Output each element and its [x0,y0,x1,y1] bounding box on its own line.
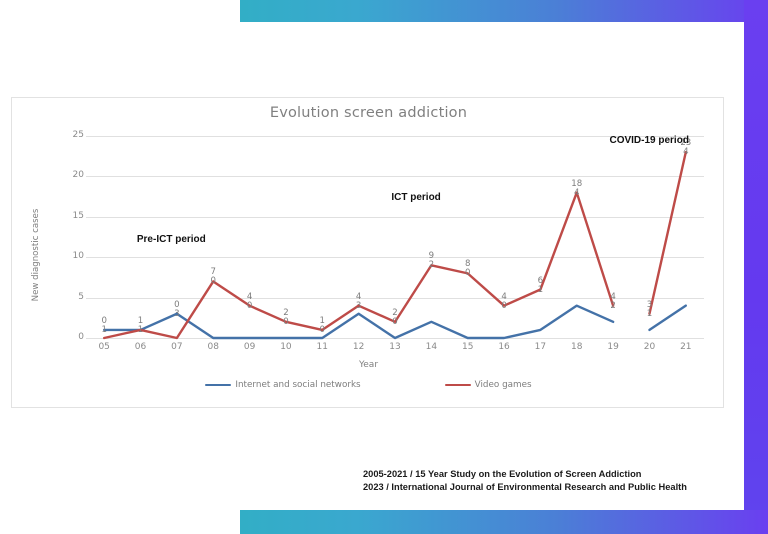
data-label-internet: 0 [491,301,517,311]
footer-line-1: 2005-2021 / 15 Year Study on the Evoluti… [363,468,733,481]
legend-swatch-icon [445,384,471,387]
data-label-internet: 0 [309,325,335,335]
plot-area: 0510152025 05060708091011121314151617181… [86,136,704,338]
legend-label: Video games [475,380,532,390]
chart-container: Evolution screen addiction New diagnosti… [11,97,724,408]
x-axis-tick-label: 16 [489,342,519,352]
period-annotation: COVID-19 period [609,135,688,146]
y-axis-tick-label: 25 [44,130,84,140]
x-axis-tick-label: 18 [562,342,592,352]
x-axis-tick-label: 09 [235,342,265,352]
decorative-band-right [744,0,768,534]
data-label-internet: 0 [200,276,226,286]
x-axis-tick-label: 12 [344,342,374,352]
data-label-internet: 2 [418,260,444,270]
x-axis-tick-label: 10 [271,342,301,352]
x-axis-tick-label: 11 [307,342,337,352]
data-label-internet: 0 [455,268,481,278]
data-label-internet: 3 [346,301,372,311]
decorative-band-bottom [240,510,768,534]
data-label-internet: 1 [91,325,117,335]
x-axis-tick-label: 19 [598,342,628,352]
x-axis-tick-label: 15 [453,342,483,352]
data-label-internet: 4 [564,188,590,198]
data-label-internet: 1 [636,309,662,319]
period-annotation: ICT period [391,192,440,203]
y-axis-tick-label: 15 [44,211,84,221]
chart-legend: Internet and social networksVideo games [12,380,725,390]
x-axis-tick-label: 07 [162,342,192,352]
y-axis-title: New diagnostic cases [31,185,41,325]
data-label-internet: 0 [382,317,408,327]
series-line [649,152,685,314]
data-label-internet: 4 [673,147,699,157]
x-axis-tick-label: 13 [380,342,410,352]
data-label-internet: 1 [527,285,553,295]
legend-item[interactable]: Internet and social networks [205,380,360,390]
footer-line-2: 2023 / International Journal of Environm… [363,481,733,494]
y-axis-tick-label: 20 [44,170,84,180]
y-axis-tick-label: 0 [44,332,84,342]
data-label-internet: 1 [128,325,154,335]
legend-item[interactable]: Video games [445,380,532,390]
x-axis-tick-label: 08 [198,342,228,352]
chart-title: Evolution screen addiction [12,105,725,121]
x-axis-tick-label: 14 [416,342,446,352]
decorative-band-top [240,0,768,22]
x-axis-tick-label: 20 [634,342,664,352]
data-label-internet: 0 [237,301,263,311]
footer-caption: 2005-2021 / 15 Year Study on the Evoluti… [363,468,733,495]
data-label-internet: 3 [164,309,190,319]
data-label-internet: 2 [600,301,626,311]
legend-label: Internet and social networks [235,380,360,390]
x-axis-tick-label: 05 [89,342,119,352]
x-axis-title: Year [12,360,725,370]
y-axis-tick-label: 5 [44,292,84,302]
y-axis-tick-label: 10 [44,251,84,261]
x-axis-tick-label: 06 [126,342,156,352]
x-axis-tick-label: 21 [671,342,701,352]
legend-swatch-icon [205,384,231,387]
x-axis-tick-label: 17 [525,342,555,352]
data-label-internet: 0 [273,317,299,327]
slide-canvas: Evolution screen addiction New diagnosti… [0,0,768,534]
period-annotation: Pre-ICT period [137,234,206,245]
